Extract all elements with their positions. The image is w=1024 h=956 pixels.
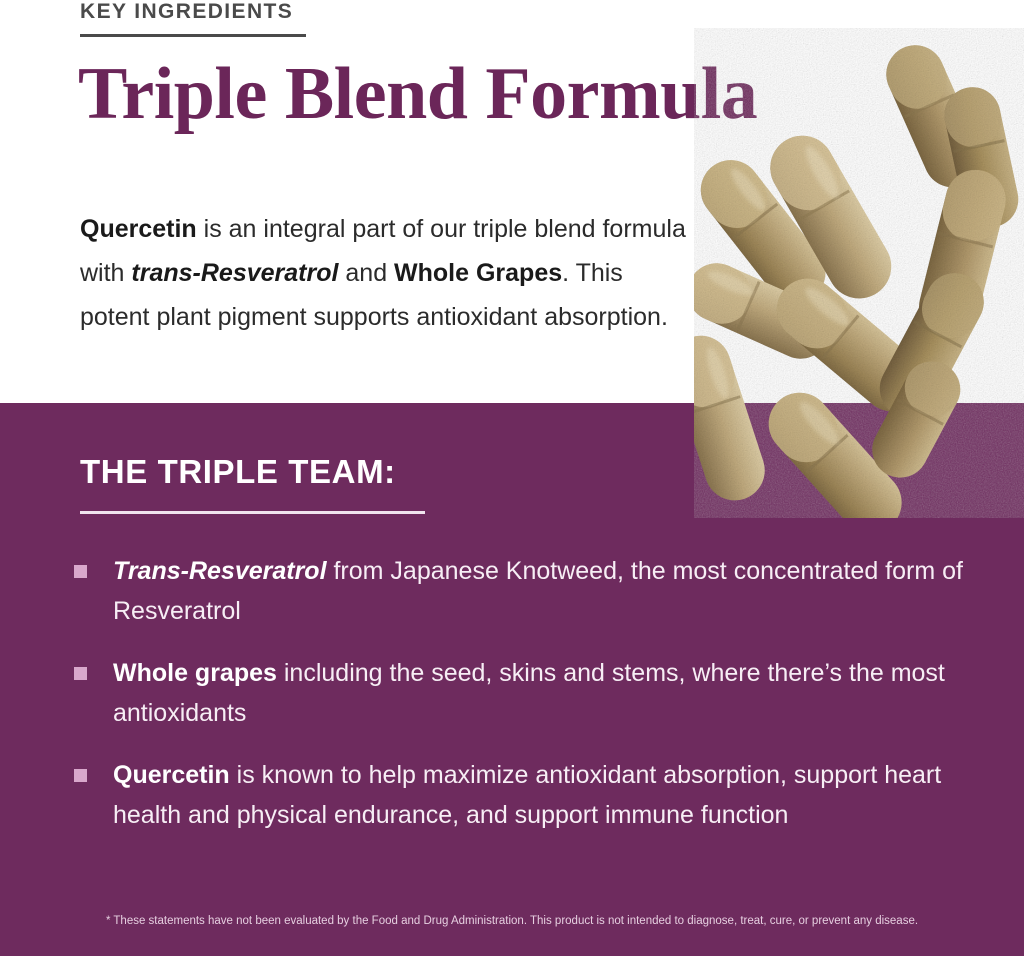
list-item: Trans-Resveratrol from Japanese Knotweed…	[74, 551, 974, 631]
intro-emphasis-term: trans-Resveratrol	[131, 259, 338, 287]
infographic-page: KEY INGREDIENTS Triple Blend Formula Que…	[0, 0, 1024, 956]
eyebrow-divider	[80, 34, 306, 37]
fda-disclaimer: * These statements have not been evaluat…	[0, 915, 1024, 927]
list-item-lead: Quercetin	[113, 761, 230, 789]
list-item-lead: Trans-Resveratrol	[113, 557, 327, 585]
intro-lead-term: Quercetin	[80, 215, 197, 243]
square-bullet-icon	[74, 565, 87, 578]
intro-paragraph: Quercetin is an integral part of our tri…	[80, 207, 690, 339]
triple-team-list: Trans-Resveratrol from Japanese Knotweed…	[74, 551, 974, 857]
list-item-rest: is known to help maximize antioxidant ab…	[113, 761, 941, 829]
intro-strong-term: Whole Grapes	[394, 259, 562, 287]
list-item-text: Quercetin is known to help maximize anti…	[113, 755, 974, 835]
section-heading: THE TRIPLE TEAM:	[80, 453, 396, 491]
square-bullet-icon	[74, 769, 87, 782]
page-title: Triple Blend Formula	[78, 52, 757, 137]
intro-text-2: and	[338, 259, 394, 287]
eyebrow-label: KEY INGREDIENTS	[80, 0, 293, 24]
list-item-text: Whole grapes including the seed, skins a…	[113, 653, 974, 733]
triple-team-section: THE TRIPLE TEAM: Trans-Resveratrol from …	[0, 403, 1024, 956]
list-item-lead: Whole grapes	[113, 659, 277, 687]
list-item: Whole grapes including the seed, skins a…	[74, 653, 974, 733]
section-heading-divider	[80, 511, 425, 514]
list-item: Quercetin is known to help maximize anti…	[74, 755, 974, 835]
square-bullet-icon	[74, 667, 87, 680]
key-ingredients-section: KEY INGREDIENTS Triple Blend Formula Que…	[0, 0, 1024, 403]
list-item-text: Trans-Resveratrol from Japanese Knotweed…	[113, 551, 974, 631]
